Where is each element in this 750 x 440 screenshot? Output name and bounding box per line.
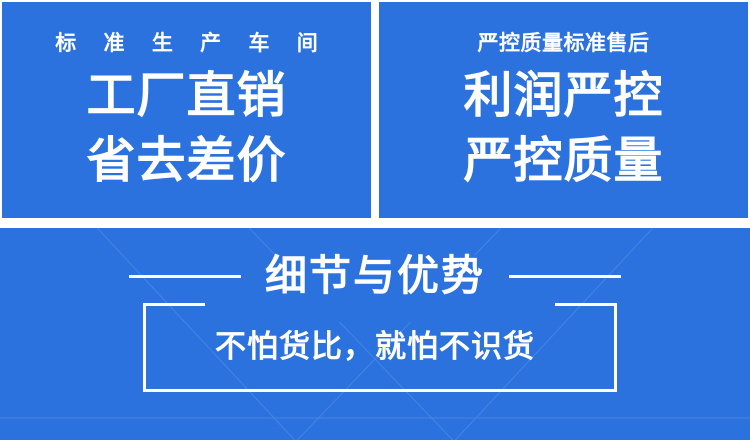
details-subtitle: 不怕货比，就怕不识货	[0, 332, 750, 363]
panel-left-headline-1: 工厂直销	[86, 64, 286, 129]
panel-right-eyebrow: 严控质量标准售后	[478, 30, 650, 56]
details-title: 细节与优势	[259, 255, 491, 297]
title-rule-left	[129, 275, 241, 278]
details-title-row: 细节与优势	[0, 255, 750, 297]
panel-left-eyebrow: 标 准 生 产 车 间	[45, 30, 328, 56]
panel-details-advantages: 细节与优势 不怕货比，就怕不识货	[0, 228, 750, 440]
panel-right-headline-2: 严控质量	[463, 129, 663, 194]
panel-left-headline-2: 省去差价	[86, 129, 286, 194]
panel-quality-control: 严控质量标准售后 利润严控 严控质量	[379, 2, 748, 218]
promo-banner: 标 准 生 产 车 间 工厂直销 省去差价 严控质量标准售后 利润严控 严控质量…	[0, 0, 750, 440]
panel-right-content: 严控质量标准售后 利润严控 严控质量	[379, 30, 748, 194]
panel-right-headline-1: 利润严控	[463, 64, 663, 129]
panel-left-content: 标 准 生 产 车 间 工厂直销 省去差价	[2, 30, 371, 194]
panel-factory-direct: 标 准 生 产 车 间 工厂直销 省去差价	[2, 2, 371, 218]
title-rule-right	[509, 275, 621, 278]
